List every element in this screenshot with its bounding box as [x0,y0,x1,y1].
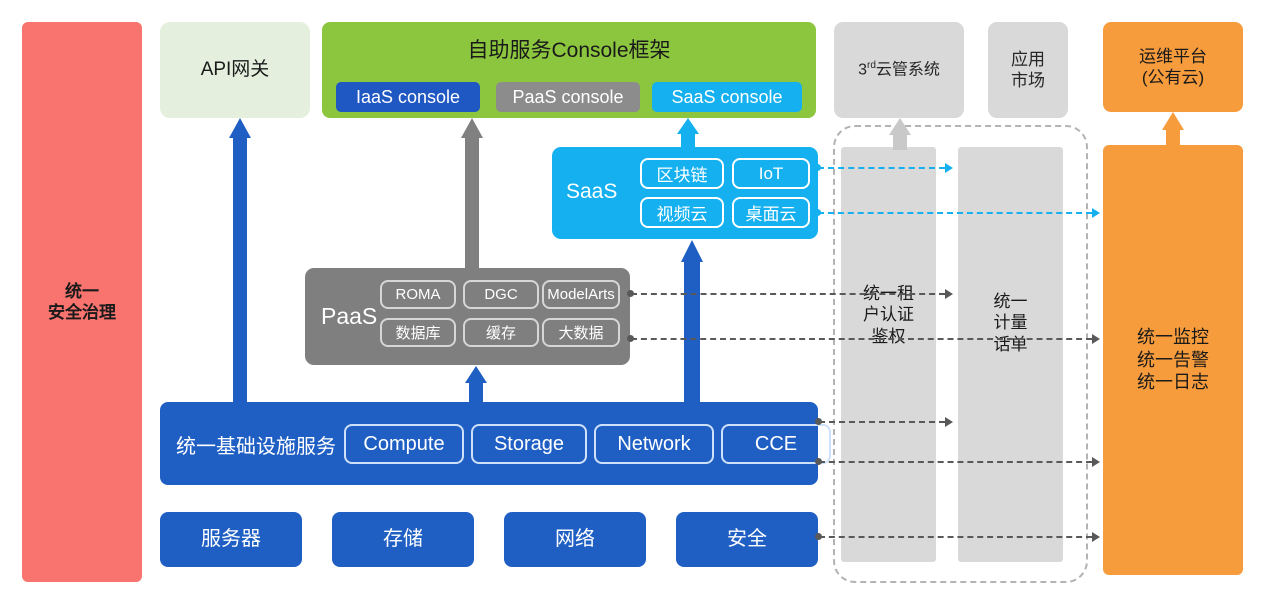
paas-item-modelarts[interactable]: ModelArts [542,280,620,309]
arrow-ops-panel-to-ops-platform [1157,112,1189,147]
iaas-console-label: IaaS console [356,87,460,108]
infra-item-network-label: Network [617,433,690,456]
hardware-box-security[interactable]: 安全 [676,512,818,567]
saas-block: SaaS 区块链 IoT 视频云 桌面云 [552,147,818,239]
paas-item-bigdata-label: 大数据 [558,322,603,343]
api-gateway-label: API网关 [201,58,270,82]
infra-item-cce-label: CCE [755,433,797,456]
connector-arrowhead-infra-to-ops [1092,457,1100,467]
arrow-infra-to-paas [461,366,491,404]
connector-infra-to-ops [819,461,1092,463]
unified-infrastructure-label: 统一基础设施服务 [176,430,336,459]
app-market-box: 应用 市场 [988,22,1068,118]
paas-block-label: PaaS [321,303,377,330]
connector-arrowhead-hardware-to-ops [1092,532,1100,542]
security-governance-panel: 统一 安全治理 [22,22,142,582]
arrow-paas-to-console [455,118,489,270]
app-market-line2: 市场 [1011,70,1045,91]
ops-platform-line1: 运维平台 [1139,46,1207,67]
saas-item-blockchain[interactable]: 区块链 [640,158,724,189]
hardware-box-network[interactable]: 网络 [504,512,646,567]
console-frame-title: 自助服务Console框架 [322,34,816,64]
paas-item-database-label: 数据库 [395,322,440,343]
infra-item-storage-label: Storage [494,433,564,456]
third-party-cloud-mgmt-box: 3rd云管系统 [834,22,964,118]
arrow-infra-to-saas [675,240,709,404]
arrow-infra-to-api-gateway [224,118,256,404]
connector-paas-to-auth [631,293,945,295]
third-party-prefix: 3 [858,61,867,78]
connector-arrowhead-saas-to-ops [1092,208,1100,218]
ops-platform-line2: (公有云) [1142,67,1204,88]
paas-item-cache-label: 缓存 [486,322,516,343]
paas-item-bigdata[interactable]: 大数据 [542,318,620,347]
infra-item-network[interactable]: Network [594,424,714,464]
saas-item-iot[interactable]: IoT [732,158,810,189]
connector-paas-to-ops [631,338,1092,340]
paas-item-roma[interactable]: ROMA [380,280,456,309]
connector-hardware-to-ops [819,536,1092,538]
saas-item-desktop-cloud-label: 桌面云 [746,200,797,225]
paas-console-label: PaaS console [512,87,623,108]
unified-ops-line2: 统一告警 [1137,349,1209,372]
billing-line2: 计量 [994,312,1028,333]
arrow-saas-to-saas-console [672,118,704,149]
infra-item-compute[interactable]: Compute [344,424,464,464]
saas-console-label: SaaS console [671,87,782,108]
architecture-diagram: 统一 安全治理 API网关 自助服务Console框架 IaaS console… [0,0,1265,605]
paas-item-cache[interactable]: 缓存 [463,318,539,347]
connector-arrowhead-infra-to-auth [945,417,953,427]
auth-column-label: 统一租 户认证 鉴权 [841,275,936,355]
saas-item-blockchain-label: 区块链 [657,161,708,186]
unified-ops-line3: 统一日志 [1137,371,1209,394]
saas-item-desktop-cloud[interactable]: 桌面云 [732,197,810,228]
hardware-box-server[interactable]: 服务器 [160,512,302,567]
hardware-box-storage-label: 存储 [383,527,423,552]
hardware-box-server-label: 服务器 [201,527,261,552]
paas-block: PaaS ROMA DGC ModelArts 数据库 缓存 大数据 [305,268,630,365]
unified-ops-panel: 统一监控 统一告警 统一日志 [1103,145,1243,575]
saas-item-video-cloud-label: 视频云 [657,200,708,225]
auth-line3: 鉴权 [872,326,906,347]
infra-item-compute-label: Compute [363,433,444,456]
saas-item-video-cloud[interactable]: 视频云 [640,197,724,228]
connector-saas-to-auth [818,167,945,169]
paas-item-roma-label: ROMA [396,286,441,303]
auth-line2: 户认证 [863,304,914,325]
paas-console-chip[interactable]: PaaS console [496,82,640,112]
billing-column-label: 统一 计量 话单 [958,283,1063,363]
infra-item-cce[interactable]: CCE [721,424,831,464]
connector-arrowhead-paas-to-ops [1092,334,1100,344]
billing-line3: 话单 [994,334,1028,355]
hardware-box-security-label: 安全 [727,527,767,552]
infra-item-storage[interactable]: Storage [471,424,587,464]
hardware-box-network-label: 网络 [555,527,595,552]
saas-block-label: SaaS [566,180,617,204]
arrow-shared-to-third-party [884,118,916,150]
paas-item-dgc-label: DGC [484,286,517,303]
third-party-cloud-mgmt-label: 3rd云管系统 [858,60,940,80]
security-governance-line1: 统一 [65,281,99,302]
hardware-box-storage[interactable]: 存储 [332,512,474,567]
unified-infrastructure-block: 统一基础设施服务 Compute Storage Network CCE [160,402,818,485]
third-party-suffix: 云管系统 [876,61,940,78]
saas-console-chip[interactable]: SaaS console [652,82,802,112]
saas-item-iot-label: IoT [759,164,784,184]
paas-item-dgc[interactable]: DGC [463,280,539,309]
unified-ops-line1: 统一监控 [1137,326,1209,349]
paas-item-modelarts-label: ModelArts [547,286,615,303]
connector-saas-to-ops [818,212,1092,214]
connector-arrowhead-saas-to-auth [945,163,953,173]
security-governance-line2: 安全治理 [48,302,116,323]
iaas-console-chip[interactable]: IaaS console [336,82,480,112]
self-service-console-frame: 自助服务Console框架 IaaS console PaaS console … [322,22,816,118]
third-party-superscript: rd [867,60,876,71]
paas-item-database[interactable]: 数据库 [380,318,456,347]
ops-platform-box: 运维平台 (公有云) [1103,22,1243,112]
app-market-line1: 应用 [1011,49,1045,70]
api-gateway-box: API网关 [160,22,310,118]
connector-arrowhead-paas-to-auth [945,289,953,299]
billing-line1: 统一 [994,291,1028,312]
connector-infra-to-auth [819,421,945,423]
